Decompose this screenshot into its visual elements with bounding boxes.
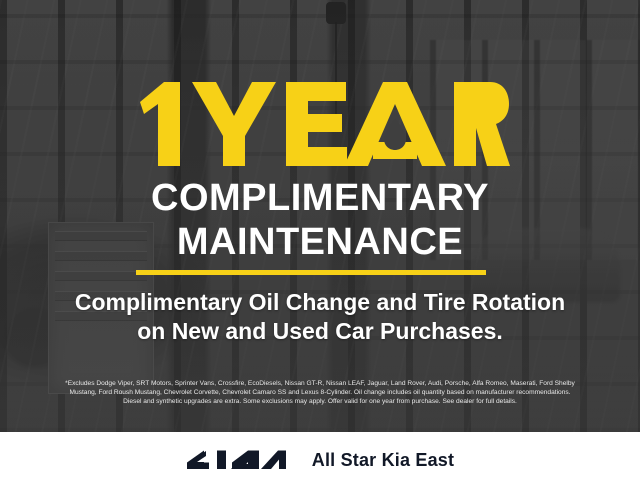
oil-drop-icon — [384, 118, 406, 150]
disclaimer-text: *Excludes Dodge Viper, SRT Motors, Sprin… — [14, 379, 626, 407]
headline-secondary-line1: COMPLIMENTARY — [0, 178, 640, 218]
headline-primary: 1 YEAR — [0, 78, 640, 170]
footer-bar: All Star Kia East — [0, 432, 640, 488]
headline-secondary-line2: MAINTENANCE — [0, 222, 640, 262]
headline-primary-graphic — [130, 76, 510, 172]
accent-divider-rule — [136, 270, 486, 275]
promo-banner: 1 YEAR COMPLIMENTARY MAINTENANCE Complim… — [0, 0, 640, 488]
kia-logo — [186, 446, 290, 474]
subheadline-line2: on New and Used Car Purchases. — [28, 317, 612, 346]
disclaimer-line: Diesel and synthetic upgrades are extra.… — [14, 397, 626, 406]
disclaimer-line: Mustang, Ford Roush Mustang, Chevrolet C… — [14, 388, 626, 397]
disclaimer-line: *Excludes Dodge Viper, SRT Motors, Sprin… — [14, 379, 626, 388]
subheadline: Complimentary Oil Change and Tire Rotati… — [28, 288, 612, 346]
dealer-name: All Star Kia East — [312, 450, 454, 471]
subheadline-line1: Complimentary Oil Change and Tire Rotati… — [28, 288, 612, 317]
banner-content: 1 YEAR COMPLIMENTARY MAINTENANCE Complim… — [0, 0, 640, 488]
